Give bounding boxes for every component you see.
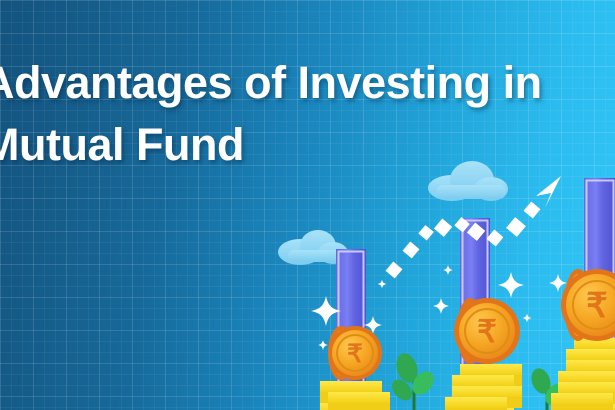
sparkle-5 [498, 272, 524, 298]
svg-text:₹: ₹ [477, 314, 497, 349]
svg-text:₹: ₹ [586, 287, 608, 325]
sparkle-4 [433, 298, 449, 314]
coin-stack-3 [551, 338, 615, 410]
banner-headline: Advantages of Investing in Mutual Fund [0, 52, 615, 176]
rupee-coin-1: ₹ [328, 326, 382, 380]
svg-text:₹: ₹ [347, 340, 363, 368]
sparkle-3 [318, 340, 328, 350]
rupee-coin-3: ₹ [561, 269, 615, 341]
sparkle-9 [443, 265, 453, 275]
coin-stack-2 [445, 364, 522, 410]
mutual-fund-banner: ₹ ₹ ₹ Advantages of Inves [0, 0, 615, 410]
rupee-coin-2: ₹ [454, 298, 520, 364]
headline-line-2: Mutual Fund [0, 114, 615, 176]
coin-stack-1 [320, 381, 390, 410]
plant-sprout-1 [388, 351, 438, 410]
sparkle-8 [378, 280, 387, 289]
sparkle-6 [523, 314, 532, 323]
headline-line-1: Advantages of Investing in [0, 57, 542, 108]
sparkle-7 [549, 274, 567, 292]
